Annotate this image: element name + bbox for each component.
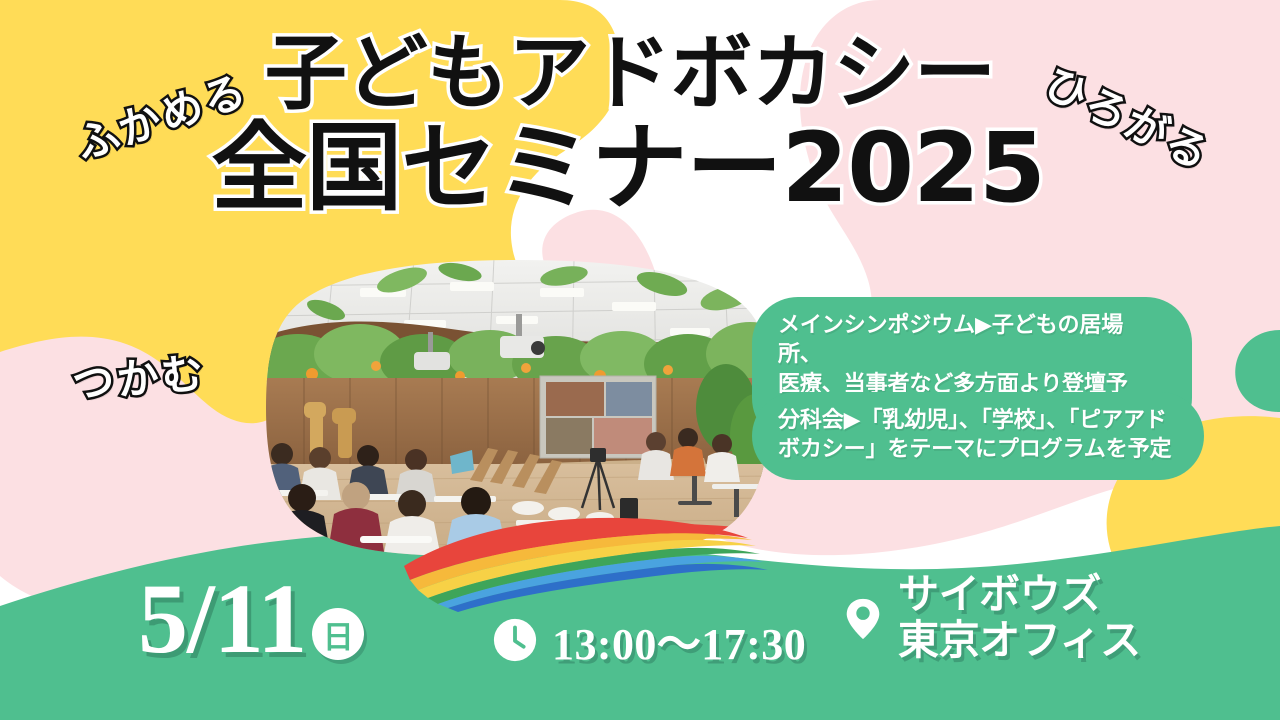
callout-sub-line-1: 分科会▶「乳幼児」、「学校」、「ピアアド	[778, 406, 1178, 435]
event-venue: サイボウズ 東京オフィス	[898, 572, 1141, 664]
event-time: 13:00〜17:30	[552, 608, 806, 672]
day-of-week-label: 日	[323, 612, 354, 657]
event-date-group: 5/11 日	[138, 572, 364, 666]
event-date: 5/11	[138, 572, 306, 666]
callout-breakout-sessions: 分科会▶「乳幼児」、「学校」、「ピアアド ボカシー」をテーマにプログラムを予定	[752, 392, 1204, 480]
event-time-group: 13:00〜17:30	[492, 608, 806, 672]
clock-icon	[492, 617, 538, 663]
event-venue-group: サイボウズ 東京オフィス	[840, 572, 1141, 664]
venue-line-1: サイボウズ	[898, 572, 1141, 618]
event-poster: ふかめる ひろがる つかむ 子どもアドボカシー 全国セミナー2025 メインシン…	[0, 0, 1280, 720]
venue-line-2: 東京オフィス	[898, 618, 1141, 664]
decoration-word-tsukamu: つかむ	[70, 339, 208, 411]
location-pin-icon	[840, 595, 886, 641]
day-badge-icon: 日	[312, 608, 364, 660]
seminar-photo	[264, 258, 772, 558]
callout-sub-line-2: ボカシー」をテーマにプログラムを予定	[778, 435, 1178, 464]
callout-main-line-1: メインシンポジウム▶子どもの居場所、	[778, 311, 1166, 370]
